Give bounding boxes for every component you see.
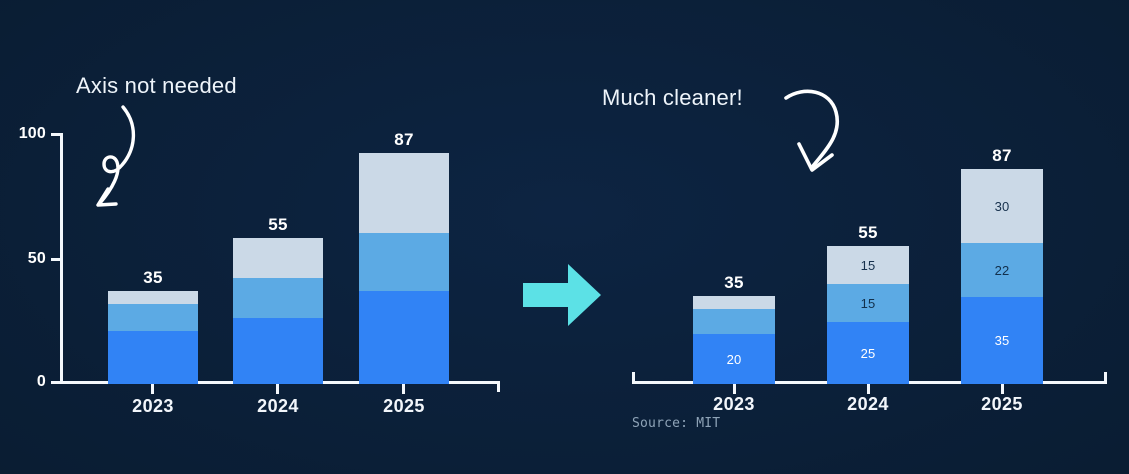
x-tick-2023 [733,384,736,394]
category-label-2024: 2024 [233,396,323,417]
x-tick-2025 [402,384,405,394]
y-tick-label-0: 0 [0,373,46,391]
bar-2024-segment-deep [233,318,323,384]
bar-2024-segment-mid: 15 [827,284,909,322]
bar-2025-total-label: 87 [359,130,449,150]
bar-2023-segment-mid [693,309,775,334]
bar-2024-segment-light [233,238,323,278]
before-chart-panel: Axis not needed 100 50 0 35 [0,0,520,474]
bar-2025-total-label: 87 [961,146,1043,166]
bar-2025[interactable] [359,153,449,384]
bar-2025-segment-light: 30 [961,169,1043,243]
bar-2023[interactable]: 20 [693,296,775,384]
bar-2023-segment-light [693,296,775,309]
bar-2023-total-label: 35 [693,273,775,293]
category-label-2024: 2024 [827,394,909,415]
bar-2025-segment-light [359,153,449,233]
source-note: Source: MIT [632,416,720,431]
x-tick-2024 [276,384,279,394]
after-chart-panel: Much cleaner! 20 35 15 15 25 55 30 [610,0,1129,474]
y-tick-label-50: 50 [0,250,46,268]
bar-2025-segment-mid [359,233,449,291]
category-label-2023: 2023 [108,396,198,417]
annotation-much-cleaner: Much cleaner! [602,85,743,111]
bar-2025-segment-mid: 22 [961,243,1043,297]
bar-2023-segment-deep: 20 [693,334,775,384]
annotation-arrow-right-icon [782,84,850,180]
x-tick-2025 [1001,384,1004,394]
category-label-2023: 2023 [693,394,775,415]
bar-2023-segment-light [108,291,198,304]
x-tick-2024 [867,384,870,394]
bar-2025[interactable]: 30 22 35 [961,169,1043,384]
bar-2023-segment-mid [108,304,198,331]
bar-2024-total-label: 55 [233,215,323,235]
slide-canvas: Axis not needed 100 50 0 35 [0,0,1129,474]
x-axis-endcap-right [497,381,500,392]
y-tick-100 [51,133,63,136]
annotation-arrow-left-icon [78,103,148,223]
annotation-axis-not-needed: Axis not needed [76,73,237,99]
x-axis-endcap-right [1104,372,1107,384]
bar-2023[interactable] [108,291,198,384]
x-axis-endcap-left [632,372,635,384]
y-tick-50 [51,258,63,261]
category-label-2025: 2025 [961,394,1043,415]
bar-2025-segment-deep: 35 [961,297,1043,384]
transition-right-arrow-icon [519,252,605,338]
x-tick-2023 [151,384,154,394]
bar-2024[interactable] [233,238,323,384]
bar-2025-segment-deep [359,291,449,384]
bar-2023-total-label: 35 [108,268,198,288]
y-tick-label-100: 100 [0,125,46,143]
bar-2023-segment-deep [108,331,198,384]
bar-2024[interactable]: 15 15 25 [827,246,909,384]
bar-2024-segment-deep: 25 [827,322,909,384]
bar-2024-segment-mid [233,278,323,318]
bar-2024-segment-light: 15 [827,246,909,284]
bar-2024-total-label: 55 [827,223,909,243]
category-label-2025: 2025 [359,396,449,417]
